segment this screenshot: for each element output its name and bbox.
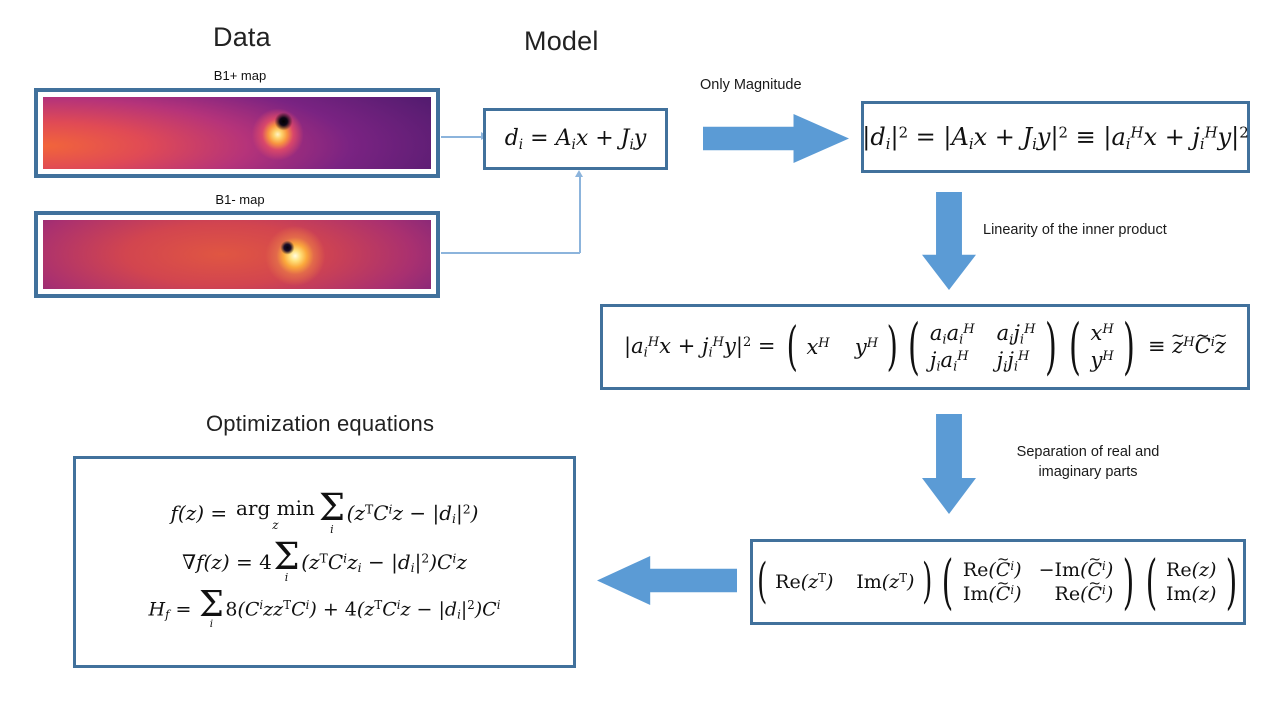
page-title-optimization: Optimization equations	[206, 411, 434, 437]
b1-minus-map-frame	[34, 211, 440, 298]
b1-minus-map-caption: B1- map	[150, 192, 330, 207]
connector-b1plus-to-model	[441, 136, 483, 138]
optimization-equation-line-2: ∇f(z) = 4Σi(zTCizi − |di|2)Ciz	[182, 543, 467, 584]
b1-minus-map-image	[43, 220, 431, 289]
magnitude-equation-box: |di|2 = |Aix + Jiy|2 ≡ |aiHx + jiHy|2	[861, 101, 1250, 173]
arrow-to-optimization-icon	[597, 556, 737, 605]
connector-b1minus-arrowhead-icon	[575, 170, 583, 177]
magnitude-equation-math: |di|2 = |Aix + Jiy|2 ≡ |aiHx + jiHy|2	[862, 125, 1249, 149]
arrow-to-quadratic-form-icon	[922, 192, 976, 290]
model-equation-box: di = Aix + Jiy	[483, 108, 668, 170]
connector-b1minus-vertical	[579, 176, 581, 253]
real-imaginary-math: (Re(zT)Im(zT))(Re(~Ci)−Im(~Ci)Im(~Ci)Re(…	[753, 553, 1243, 612]
optimization-equations-box: f(z) = arg minzΣi(zTCiz − |di|2) ∇f(z) =…	[73, 456, 576, 668]
step-label-separation: Separation of real and imaginary parts	[983, 443, 1193, 482]
step-label-only-magnitude: Only Magnitude	[700, 76, 802, 96]
step-label-separation-line2: imaginary parts	[983, 463, 1193, 483]
quadratic-form-math: |aiHx + jiHy|2 = (xHyH)(aiaiHaijiHjiaiHj…	[624, 317, 1226, 378]
connector-b1minus-horizontal	[441, 252, 580, 254]
b1-plus-map-frame	[34, 88, 440, 178]
real-imaginary-box: (Re(zT)Im(zT))(Re(~Ci)−Im(~Ci)Im(~Ci)Re(…	[750, 539, 1246, 625]
optimization-equation-line-3: Hf = Σi8(CizzTCi) + 4(zTCiz − |di|2)Ci	[149, 591, 501, 630]
page-title-data: Data	[213, 22, 271, 53]
step-label-separation-line1: Separation of real and	[983, 443, 1193, 463]
model-equation-math: di = Aix + Jiy	[505, 128, 647, 150]
b1-plus-map-caption: B1+ map	[150, 68, 330, 83]
optimization-equation-line-1: f(z) = arg minzΣi(zTCiz − |di|2)	[171, 494, 479, 535]
arrow-to-real-imaginary-icon	[922, 414, 976, 514]
quadratic-form-box: |aiHx + jiHy|2 = (xHyH)(aiaiHaijiHjiaiHj…	[600, 304, 1250, 390]
page-title-model: Model	[524, 26, 599, 57]
b1-plus-map-image	[43, 97, 431, 169]
step-label-linearity: Linearity of the inner product	[983, 221, 1167, 241]
arrow-model-to-magnitude-icon	[703, 114, 849, 163]
